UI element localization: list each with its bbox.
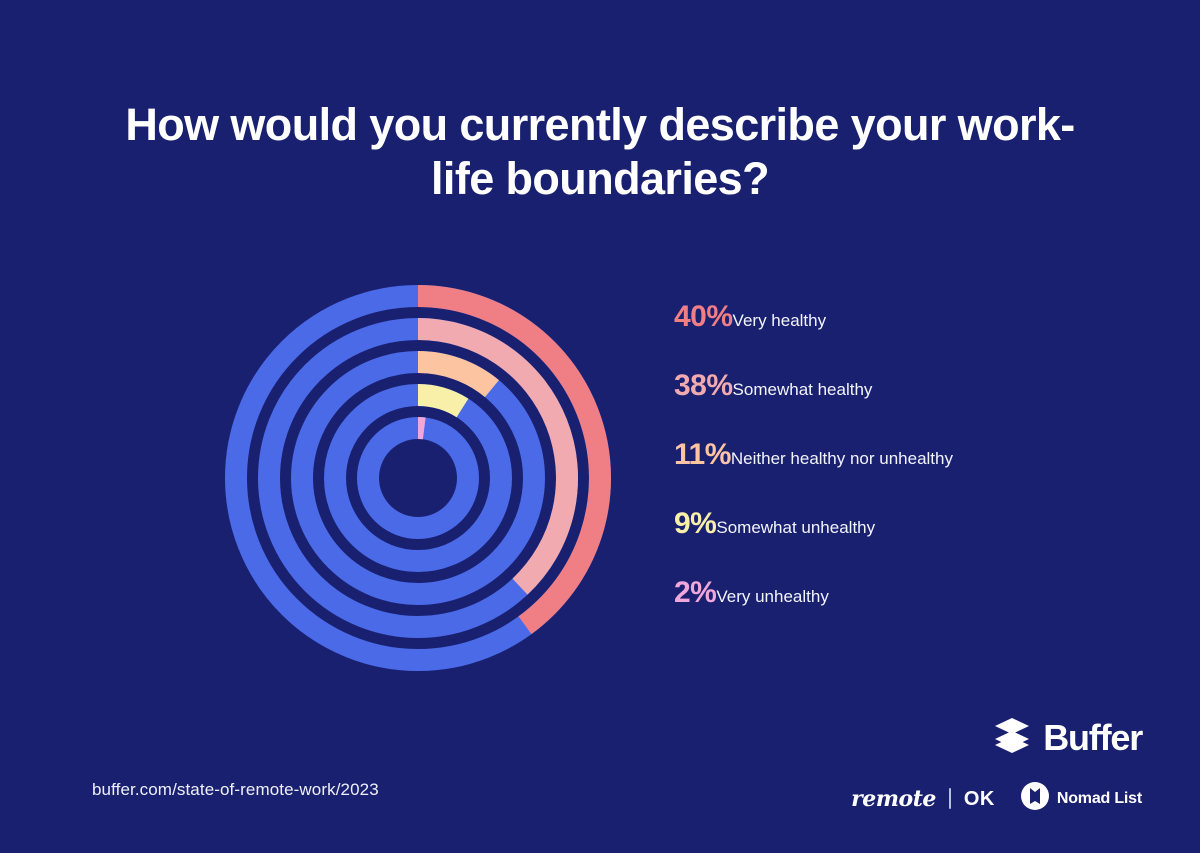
source-url[interactable]: buffer.com/state-of-remote-work/2023	[92, 780, 379, 800]
legend-item-very-unhealthy: 2% Very unhealthy	[674, 576, 1094, 645]
buffer-stacked-layers-icon	[992, 716, 1032, 759]
legend-label: Somewhat unhealthy	[716, 518, 875, 538]
remoteok-wordmark: remote	[851, 788, 936, 810]
legend-percent: 40%	[674, 300, 733, 334]
legend-item-neither: 11% Neither healthy nor unhealthy	[674, 438, 1094, 507]
ring-track-5	[368, 428, 468, 528]
nomad-icon-svg	[1020, 781, 1050, 811]
chart-rings-group	[236, 296, 600, 660]
legend-label: Very unhealthy	[716, 587, 828, 607]
branding-block: Buffer remote OK Nomad List	[842, 716, 1142, 816]
legend-label: Very healthy	[733, 311, 827, 331]
page-title: How would you currently describe your wo…	[0, 98, 1200, 206]
legend-item-somewhat-unhealthy: 9% Somewhat unhealthy	[674, 507, 1094, 576]
nomad-list-wordmark: Nomad List	[1057, 791, 1142, 807]
legend-percent: 38%	[674, 369, 733, 403]
nomad-list-badge-icon	[1020, 781, 1050, 816]
nomad-list-logo: Nomad List	[1020, 781, 1142, 816]
radial-bar-chart	[218, 278, 618, 678]
ring-value-arc-4	[418, 395, 462, 408]
partner-logos-row: remote OK Nomad List	[842, 781, 1142, 816]
ok-wordmark: OK	[964, 789, 995, 809]
legend-label: Somewhat healthy	[733, 380, 873, 400]
legend-percent: 2%	[674, 576, 716, 610]
infographic-canvas: How would you currently describe your wo…	[0, 0, 1200, 853]
buffer-icon-svg	[992, 716, 1032, 754]
buffer-logo: Buffer	[842, 716, 1142, 759]
buffer-wordmark: Buffer	[1043, 720, 1142, 756]
legend-percent: 9%	[674, 507, 716, 541]
logo-divider	[949, 788, 951, 809]
legend-percent: 11%	[674, 438, 731, 472]
legend-label: Neither healthy nor unhealthy	[731, 449, 953, 469]
legend-item-somewhat-healthy: 38% Somewhat healthy	[674, 369, 1094, 438]
chart-legend: 40% Very healthy 38% Somewhat healthy 11…	[674, 300, 1094, 645]
radial-bar-chart-svg	[218, 278, 618, 678]
legend-item-very-healthy: 40% Very healthy	[674, 300, 1094, 369]
